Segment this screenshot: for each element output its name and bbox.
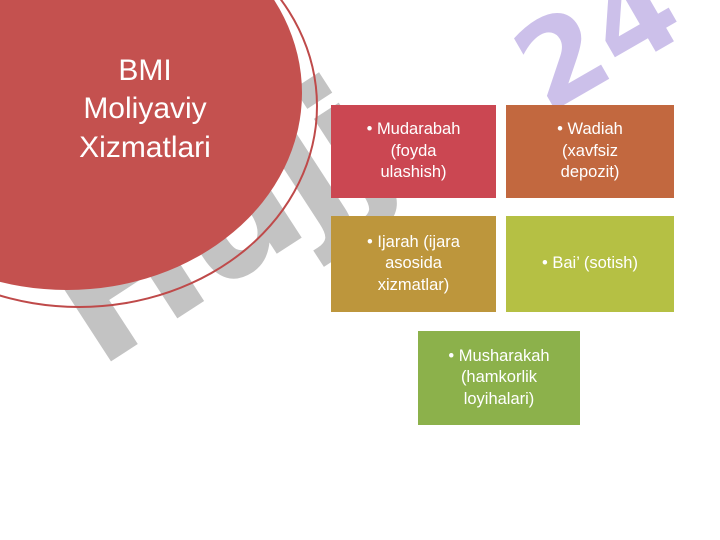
content-box-ijarah[interactable]: • Ijarah (ijara asosida xizmatlar): [331, 216, 496, 312]
content-box-wadiah[interactable]: • Wadiah (xavfsiz depozit): [506, 105, 674, 198]
content-box-mudarabah[interactable]: • Mudarabah (foyda ulashish): [331, 105, 496, 198]
content-box-bai[interactable]: • Bai’ (sotish): [506, 216, 674, 312]
content-box-musharakah[interactable]: • Musharakah (hamkorlik loyihalari): [418, 331, 580, 425]
content-box-group: • Mudarabah (foyda ulashish) • Wadiah (x…: [0, 0, 720, 540]
slide-canvas: Hujj 24 BMI Moliyaviy Xizmatlari • Mudar…: [0, 0, 720, 540]
